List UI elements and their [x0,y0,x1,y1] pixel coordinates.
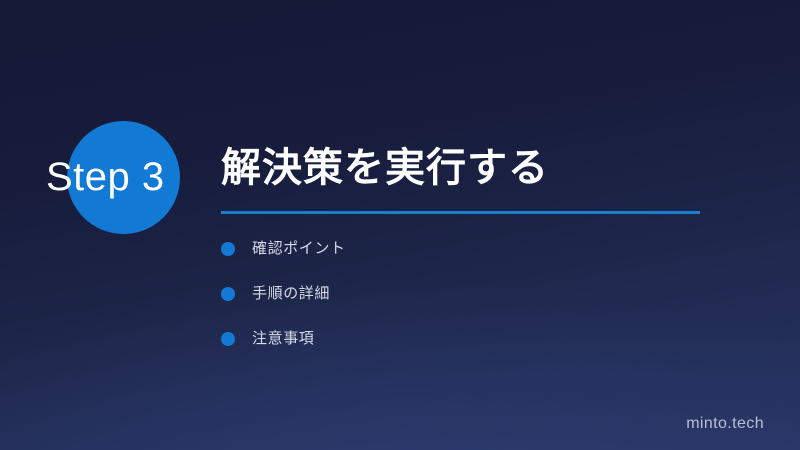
step-badge-label: Step 3 [46,152,206,202]
footer-brand-label: minto.tech [686,415,764,433]
bullet-list: 確認ポイント 手順の詳細 注意事項 [221,241,701,346]
list-item: 手順の詳細 [221,286,701,301]
title-underline-rule [221,211,700,214]
bullet-dot-icon [221,242,235,256]
bullet-item-label: 確認ポイント [252,241,346,256]
bullet-item-label: 注意事項 [252,331,314,346]
bullet-dot-icon [221,332,235,346]
bullet-dot-icon [221,287,235,301]
list-item: 注意事項 [221,331,701,346]
slide-canvas: Step 3 解決策を実行する 確認ポイント 手順の詳細 注意事項 minto.… [0,0,800,450]
bullet-item-label: 手順の詳細 [252,286,330,301]
list-item: 確認ポイント [221,241,701,256]
slide-title: 解決策を実行する [221,144,549,192]
